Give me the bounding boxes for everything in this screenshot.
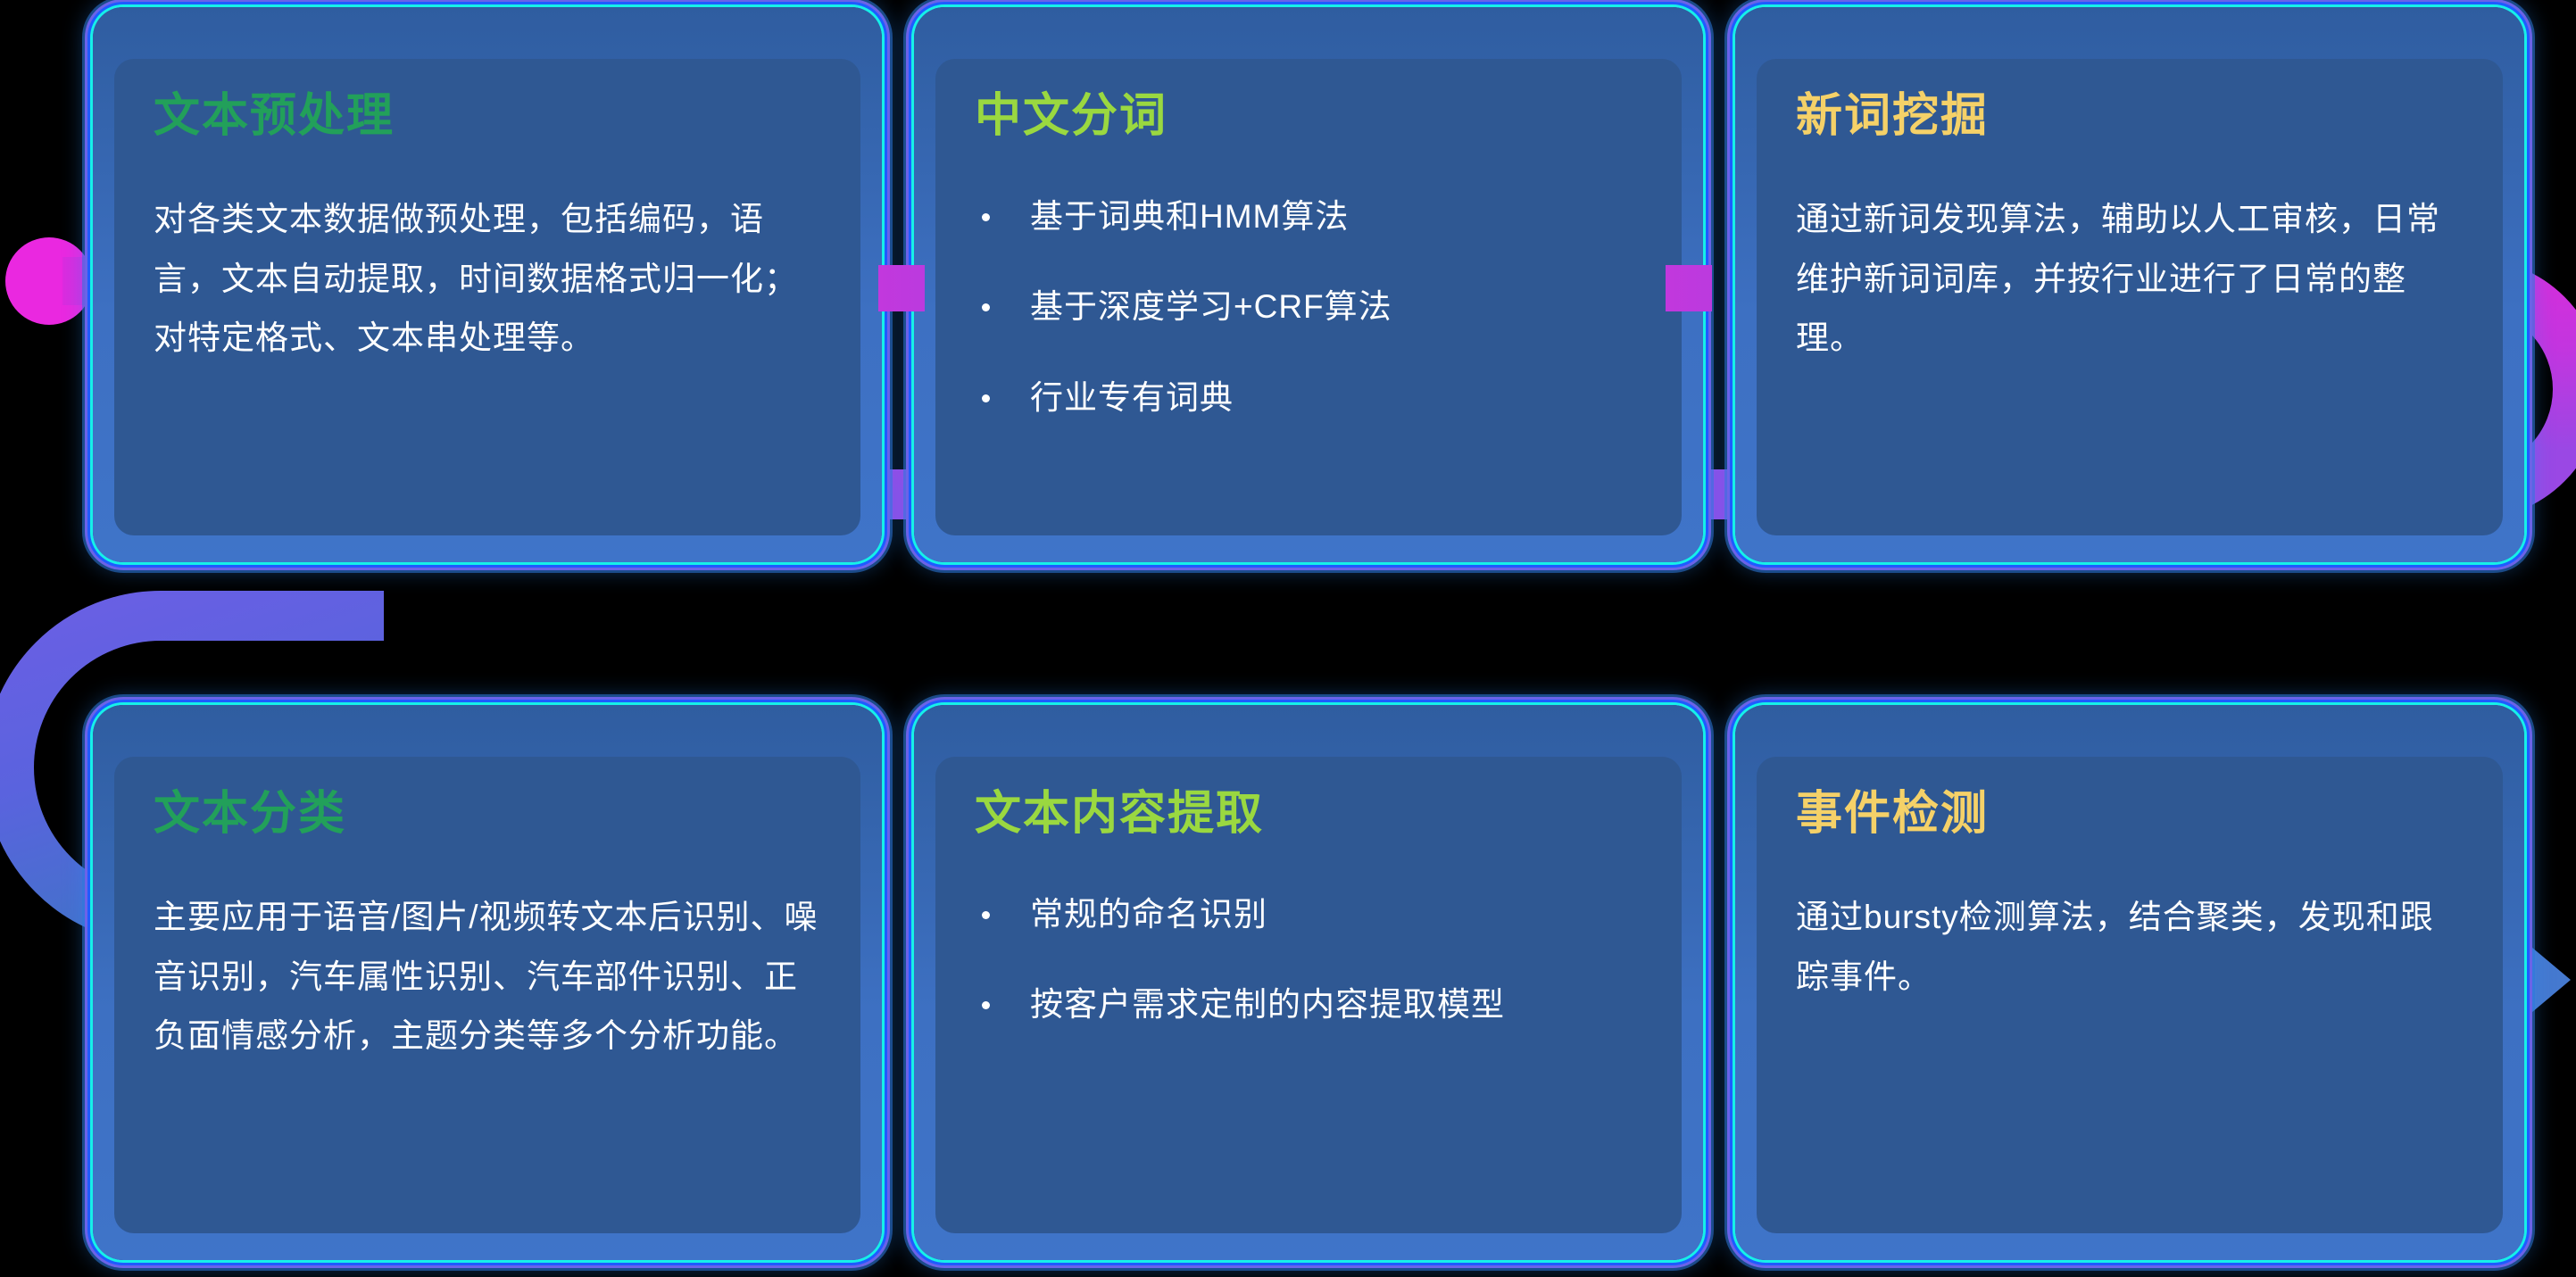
row-bottom: 文本分类 主要应用于语音/图片/视频转文本后识别、噪音识别，汽车属性识别、汽车部… xyxy=(93,705,2524,1260)
list-item: 基于深度学习+CRF算法 xyxy=(975,280,1642,333)
bullet-dot-icon xyxy=(982,394,990,402)
card-new-word-discovery[interactable]: 新词挖掘 通过新词发现算法，辅助以人工审核，日常维护新词词库，并按行业进行了日常… xyxy=(1757,59,2503,535)
card-chinese-word-segmentation[interactable]: 中文分词 基于词典和HMM算法 基于深度学习+CRF算法 行业专有词典 xyxy=(935,59,1682,535)
card-wrapper-event-detection[interactable]: 事件检测 通过bursty检测算法，结合聚类，发现和跟踪事件。 xyxy=(1735,705,2524,1260)
bullet-dot-icon xyxy=(982,911,990,919)
card-body-event-detection: 通过bursty检测算法，结合聚类，发现和跟踪事件。 xyxy=(1796,888,2464,1007)
list-item-label: 常规的命名识别 xyxy=(1030,896,1267,933)
card-event-detection[interactable]: 事件检测 通过bursty检测算法，结合聚类，发现和跟踪事件。 xyxy=(1757,757,2503,1233)
bullet-list-chinese-word-segmentation: 基于词典和HMM算法 基于深度学习+CRF算法 行业专有词典 xyxy=(975,190,1642,424)
bullet-dot-icon xyxy=(982,303,990,311)
infographic-canvas: 文本预处理 对各类文本数据做预处理，包括编码，语言，文本自动提取，时间数据格式归… xyxy=(0,0,2576,1277)
list-item: 行业专有词典 xyxy=(975,371,1642,424)
card-title-text-preprocessing: 文本预处理 xyxy=(154,91,821,142)
row-top: 文本预处理 对各类文本数据做预处理，包括编码，语言，文本自动提取，时间数据格式归… xyxy=(93,7,2524,562)
card-title-text-classification: 文本分类 xyxy=(154,789,821,840)
card-text-content-extraction[interactable]: 文本内容提取 常规的命名识别 按客户需求定制的内容提取模型 xyxy=(935,757,1682,1233)
list-item-label: 行业专有词典 xyxy=(1030,379,1234,416)
card-wrapper-text-preprocessing[interactable]: 文本预处理 对各类文本数据做预处理，包括编码，语言，文本自动提取，时间数据格式归… xyxy=(93,7,882,562)
card-title-event-detection: 事件检测 xyxy=(1796,789,2464,840)
card-text-classification[interactable]: 文本分类 主要应用于语音/图片/视频转文本后识别、噪音识别，汽车属性识别、汽车部… xyxy=(114,757,860,1233)
card-wrapper-text-content-extraction[interactable]: 文本内容提取 常规的命名识别 按客户需求定制的内容提取模型 xyxy=(914,705,1703,1260)
card-text-preprocessing[interactable]: 文本预处理 对各类文本数据做预处理，包括编码，语言，文本自动提取，时间数据格式归… xyxy=(114,59,860,535)
card-title-chinese-word-segmentation: 中文分词 xyxy=(975,91,1642,142)
connector-block-card1-card2 xyxy=(878,265,925,311)
card-title-new-word-discovery: 新词挖掘 xyxy=(1796,91,2464,142)
bullet-dot-icon xyxy=(982,213,990,221)
list-item-label: 基于深度学习+CRF算法 xyxy=(1030,288,1392,325)
card-body-new-word-discovery: 通过新词发现算法，辅助以人工审核，日常维护新词词库，并按行业进行了日常的整理。 xyxy=(1796,190,2464,369)
list-item: 按客户需求定制的内容提取模型 xyxy=(975,978,1642,1031)
card-wrapper-new-word-discovery[interactable]: 新词挖掘 通过新词发现算法，辅助以人工审核，日常维护新词词库，并按行业进行了日常… xyxy=(1735,7,2524,562)
card-wrapper-chinese-word-segmentation[interactable]: 中文分词 基于词典和HMM算法 基于深度学习+CRF算法 行业专有词典 xyxy=(914,7,1703,562)
list-item: 常规的命名识别 xyxy=(975,888,1642,941)
list-item-label: 基于词典和HMM算法 xyxy=(1030,198,1349,235)
card-body-text-classification: 主要应用于语音/图片/视频转文本后识别、噪音识别，汽车属性识别、汽车部件识别、正… xyxy=(154,888,821,1066)
card-wrapper-text-classification[interactable]: 文本分类 主要应用于语音/图片/视频转文本后识别、噪音识别，汽车属性识别、汽车部… xyxy=(93,705,882,1260)
bullet-dot-icon xyxy=(982,1001,990,1009)
card-body-text-preprocessing: 对各类文本数据做预处理，包括编码，语言，文本自动提取，时间数据格式归一化；对特定… xyxy=(154,190,821,369)
card-title-text-content-extraction: 文本内容提取 xyxy=(975,789,1642,840)
list-item-label: 按客户需求定制的内容提取模型 xyxy=(1030,986,1505,1023)
connector-block-card2-card3 xyxy=(1666,265,1712,311)
bullet-list-text-content-extraction: 常规的命名识别 按客户需求定制的内容提取模型 xyxy=(975,888,1642,1031)
list-item: 基于词典和HMM算法 xyxy=(975,190,1642,243)
